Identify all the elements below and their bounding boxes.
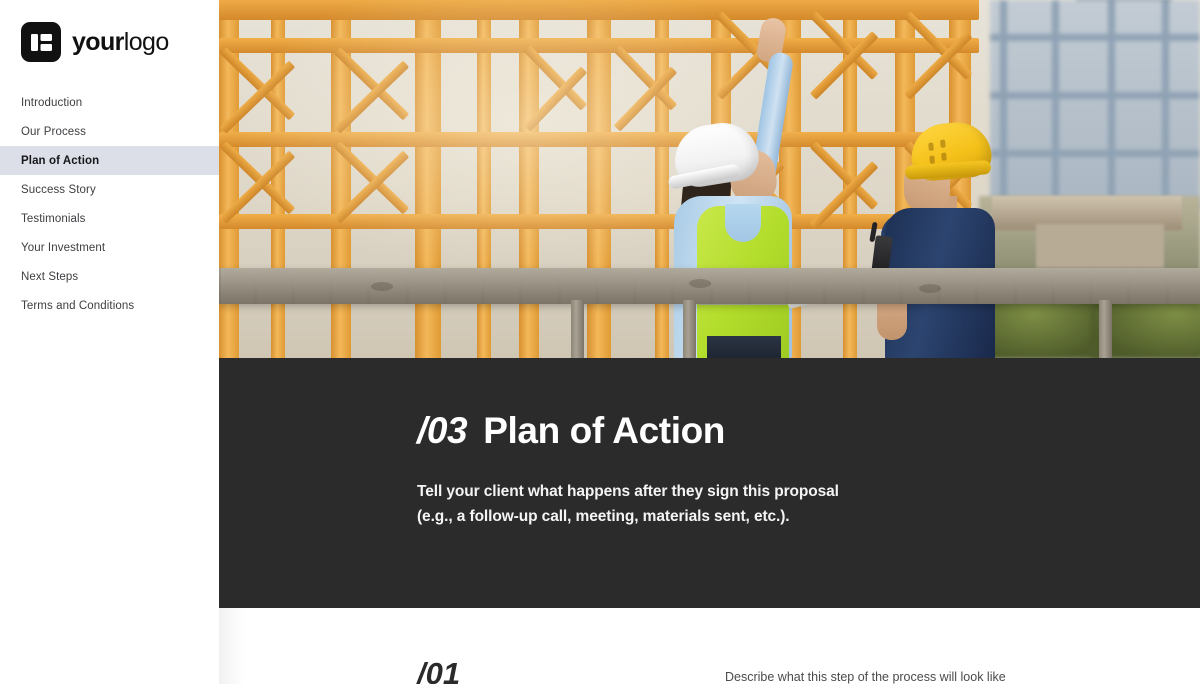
section-header-band: /03Plan of Action Tell your client what …	[219, 358, 1200, 608]
sidebar-item-label: Testimonials	[21, 213, 85, 225]
sidebar-item-plan-of-action[interactable]: Plan of Action	[0, 146, 219, 175]
rail-post	[1099, 300, 1112, 358]
nav-list: Introduction Our Process Plan of Action …	[0, 88, 219, 320]
section-number: /03	[417, 410, 467, 451]
sidebar-item-terms-and-conditions[interactable]: Terms and Conditions	[0, 291, 219, 320]
step-description: Describe what this step of the process w…	[725, 668, 1006, 684]
sidebar-item-label: Your Investment	[21, 242, 105, 254]
brand-logo[interactable]: yourlogo	[0, 0, 219, 62]
vest-neckline	[725, 204, 761, 242]
wooden-rail	[219, 268, 1200, 304]
rail-post	[571, 300, 584, 358]
subtitle-line-2: (e.g., a follow-up call, meeting, materi…	[417, 508, 790, 525]
sidebar-item-success-story[interactable]: Success Story	[0, 175, 219, 204]
section-title-text: Plan of Action	[483, 410, 725, 451]
proposal-page: yourlogo Introduction Our Process Plan o…	[0, 0, 1200, 684]
sidebar-item-testimonials[interactable]: Testimonials	[0, 204, 219, 233]
section-subtitle: Tell your client what happens after they…	[417, 479, 1200, 529]
timber-deck-lower	[1036, 224, 1164, 268]
trousers	[707, 336, 781, 358]
brand-name: yourlogo	[72, 30, 169, 55]
brand-name-bold: your	[72, 28, 124, 56]
sidebar-item-label: Next Steps	[21, 271, 78, 283]
hero-image	[219, 0, 1200, 358]
sidebar-item-your-investment[interactable]: Your Investment	[0, 233, 219, 262]
sidebar-item-label: Success Story	[21, 184, 96, 196]
subtitle-line-1: Tell your client what happens after they…	[417, 483, 839, 500]
sidebar-item-label: Terms and Conditions	[21, 300, 134, 312]
sidebar-item-label: Our Process	[21, 126, 86, 138]
rail-post	[683, 300, 696, 358]
step-number: /01	[417, 658, 460, 684]
sidebar-item-label: Plan of Action	[21, 155, 99, 167]
sidebar-item-next-steps[interactable]: Next Steps	[0, 262, 219, 291]
layout-panels-icon	[21, 22, 61, 62]
brand-name-light: logo	[124, 28, 169, 56]
proposal-content: /03Plan of Action Tell your client what …	[219, 0, 1200, 684]
page-title: /03Plan of Action	[417, 412, 1200, 449]
sidebar-navigation: yourlogo Introduction Our Process Plan o…	[0, 0, 219, 684]
background-building	[990, 0, 1200, 210]
orange-scaffolding	[219, 0, 979, 358]
sidebar-item-label: Introduction	[21, 97, 82, 109]
step-preview-section: /01 Describe what this step of the proce…	[219, 608, 1200, 684]
sidebar-item-introduction[interactable]: Introduction	[0, 88, 219, 117]
sidebar-item-our-process[interactable]: Our Process	[0, 117, 219, 146]
